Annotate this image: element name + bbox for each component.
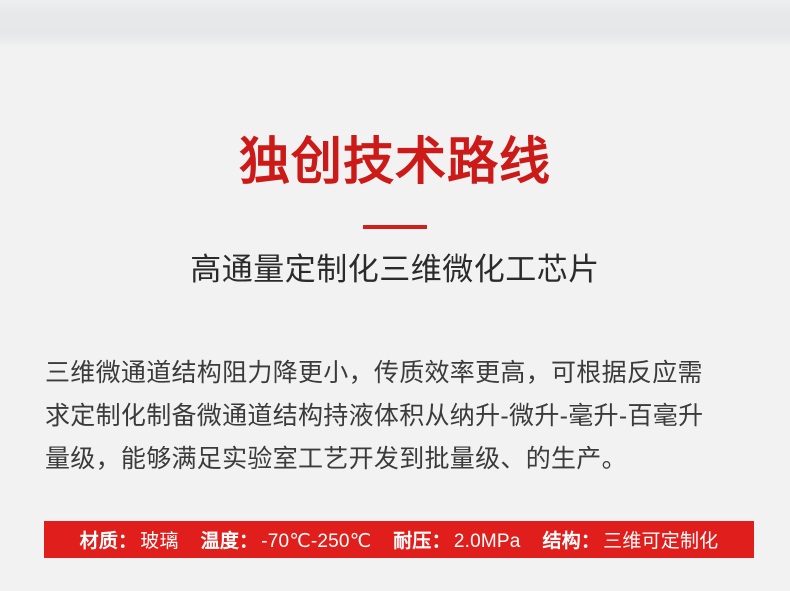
spec-item-pressure: 耐压： 2.0MPa bbox=[393, 526, 520, 553]
spec-label: 温度： bbox=[201, 526, 259, 553]
spec-label: 材质： bbox=[80, 526, 138, 553]
spec-value: -70℃-250℃ bbox=[261, 530, 371, 553]
spec-value: 三维可定制化 bbox=[603, 526, 718, 553]
spec-bar: 材质： 玻璃 温度： -70℃-250℃ 耐压： 2.0MPa 结构： 三维可定… bbox=[44, 521, 754, 558]
spec-item-structure: 结构： 三维可定制化 bbox=[543, 526, 719, 553]
description-line: 三维微通道结构阻力降更小，传质效率更高，可根据反应需 bbox=[45, 352, 751, 395]
description-line: 求定制化制备微通道结构持液体积从纳升-微升-毫升-百毫升 bbox=[45, 395, 751, 438]
spec-item-material: 材质： 玻璃 bbox=[80, 526, 179, 553]
page-subtitle: 高通量定制化三维微化工芯片 bbox=[0, 249, 790, 291]
promo-banner: 独创技术路线 高通量定制化三维微化工芯片 三维微通道结构阻力降更小，传质效率更高… bbox=[0, 0, 790, 591]
spec-item-temperature: 温度： -70℃-250℃ bbox=[201, 526, 372, 553]
title-divider bbox=[363, 225, 427, 229]
top-gradient-band bbox=[0, 0, 790, 46]
spec-label: 耐压： bbox=[393, 526, 451, 553]
description-line: 量级，能够满足实验室工艺开发到批量级、的生产。 bbox=[45, 438, 751, 481]
description-paragraph: 三维微通道结构阻力降更小，传质效率更高，可根据反应需 求定制化制备微通道结构持液… bbox=[45, 352, 751, 481]
spec-value: 玻璃 bbox=[140, 526, 178, 553]
spec-value: 2.0MPa bbox=[454, 531, 521, 553]
page-title: 独创技术路线 bbox=[0, 131, 790, 193]
spec-label: 结构： bbox=[543, 526, 601, 553]
